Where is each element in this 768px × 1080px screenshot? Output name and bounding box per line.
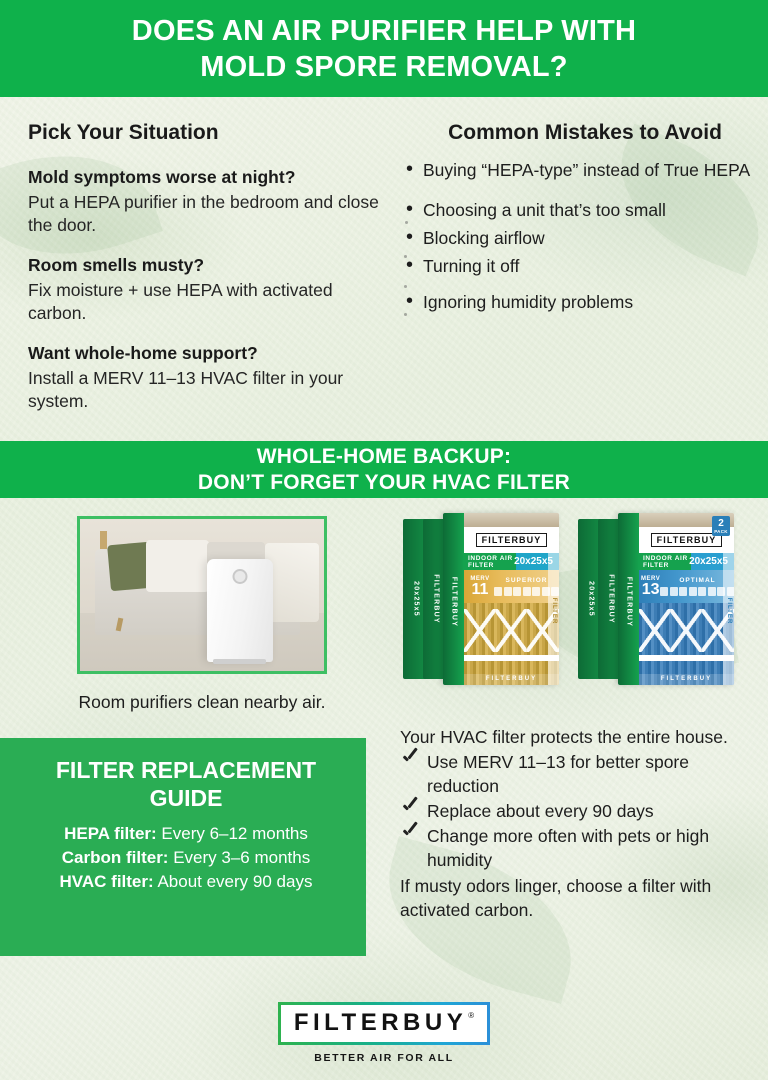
stray-bullet-artifact — [404, 255, 407, 258]
situation-question: Room smells musty? — [28, 254, 390, 277]
filter-bottom-brand: FILTERBUY — [639, 674, 734, 685]
filter-right-edge-text: FILTER — [726, 598, 732, 625]
rating-chip — [689, 587, 697, 596]
filter-left-band: FILTERBUY — [618, 513, 639, 685]
guide-title: FILTER REPLACEMENT GUIDE — [26, 756, 346, 812]
guide-row: HVAC filter: About every 90 days — [26, 870, 346, 894]
filter-right-edge: FILTER — [723, 551, 734, 685]
mistakes-section: Common Mistakes to Avoid Buying “HEPA-ty… — [402, 120, 754, 318]
situation-answer: Install a MERV 11–13 HVAC filter in your… — [28, 367, 390, 413]
rating-chip — [523, 587, 531, 596]
filter-category-label: INDOOR AIR FILTER — [639, 555, 689, 569]
header-title-line2: MOLD SPORE REMOVAL? — [200, 49, 567, 85]
filter-side-size: 20x25x5 — [588, 581, 595, 617]
situation-answer: Put a HEPA purifier in the bedroom and c… — [28, 191, 390, 237]
filter-box-front: FILTERBUY FILTERBUY INDOOR AIR FILTER 20… — [443, 513, 559, 685]
list-item-label: Use MERV 11–13 for better spore reductio… — [427, 752, 689, 796]
guide-row-label: Carbon filter: — [62, 848, 169, 867]
photo-throw-blanket — [265, 543, 319, 622]
mid-banner-line2: DON’T FORGET YOUR HVAC FILTER — [198, 470, 570, 496]
filter-merv-value: 13 — [641, 582, 660, 597]
guide-row-value: Every 3–6 months — [168, 848, 310, 867]
list-item: Blocking airflow — [402, 226, 754, 250]
filter-left-band-brand: FILTERBUY — [625, 577, 632, 627]
guide-row-label: HVAC filter: — [60, 872, 154, 891]
footer: FILTERBUY ® BETTER AIR FOR ALL — [0, 1002, 768, 1064]
guide-row: Carbon filter: Every 3–6 months — [26, 846, 346, 870]
filter-pleated-media — [464, 603, 559, 685]
filter-side-brand: FILTERBUY — [433, 574, 440, 624]
rating-chip — [660, 587, 668, 596]
guide-row-value: Every 6–12 months — [157, 824, 308, 843]
list-item: Change more often with pets or high humi… — [400, 824, 756, 872]
check-icon — [402, 825, 417, 840]
list-item: Use MERV 11–13 for better spore reductio… — [400, 750, 756, 798]
rating-chip — [532, 587, 540, 596]
filter-support-bar — [464, 655, 559, 661]
filter-side-size: 20x25x5 — [413, 581, 420, 617]
filter-pleated-media — [639, 603, 734, 685]
list-item: Ignoring humidity problems — [402, 290, 754, 314]
filter-top-edge — [464, 513, 559, 527]
filter-product-merv11: 20x25x5 FILTERBUY FILTERBUY FILTERBUY IN… — [399, 513, 563, 685]
hvac-check-list: Use MERV 11–13 for better spore reductio… — [400, 750, 756, 872]
list-item: Turning it off — [402, 254, 754, 278]
rating-chip — [670, 587, 678, 596]
check-icon — [402, 751, 417, 766]
mid-banner-line1: WHOLE-HOME BACKUP: — [257, 444, 511, 470]
filter-brand-logo: FILTERBUY — [476, 533, 548, 547]
header-banner: DOES AN AIR PURIFIER HELP WITH MOLD SPOR… — [0, 0, 768, 97]
situation-item: Want whole-home support? Install a MERV … — [28, 342, 390, 413]
situations-title: Pick Your Situation — [28, 120, 390, 146]
rating-chip — [504, 587, 512, 596]
filter-box-front: FILTERBUY 2 PACK FILTERBUY INDOOR AIR FI… — [618, 513, 734, 685]
filter-right-edge-text: FILTER — [551, 598, 557, 625]
guide-row-value: About every 90 days — [154, 872, 313, 891]
rating-chip — [679, 587, 687, 596]
filter-left-band: FILTERBUY — [443, 513, 464, 685]
photo-purifier-unit — [207, 559, 273, 662]
hvac-section: Your HVAC filter protects the entire hou… — [400, 725, 756, 922]
filter-support-braces — [464, 603, 559, 685]
filter-logo-bar: FILTERBUY — [464, 527, 559, 553]
filter-replacement-guide: FILTER REPLACEMENT GUIDE HEPA filter: Ev… — [0, 738, 366, 956]
rating-chip — [708, 587, 716, 596]
filter-left-band-brand: FILTERBUY — [450, 577, 457, 627]
header-title-line1: DOES AN AIR PURIFIER HELP WITH — [132, 13, 636, 49]
stray-bullet-artifact — [404, 313, 407, 316]
two-pack-label: PACK — [712, 529, 730, 534]
filter-info-bar: INDOOR AIR FILTER 20x25x5 — [464, 553, 559, 570]
stray-bullet-artifact — [404, 285, 407, 288]
purifier-figure: Room purifiers clean nearby air. — [77, 516, 327, 714]
rating-chip — [698, 587, 706, 596]
list-item-label: Change more often with pets or high humi… — [427, 826, 709, 870]
list-item: Buying “HEPA-type” instead of True HEPA — [402, 158, 754, 182]
situation-answer: Fix moisture + use HEPA with activated c… — [28, 279, 390, 325]
photo-cushion-white — [146, 540, 209, 592]
rating-chip — [513, 587, 521, 596]
guide-row: HEPA filter: Every 6–12 months — [26, 822, 346, 846]
brand-logo-wordmark: FILTERBUY — [294, 1010, 467, 1036]
air-purifier-photo — [77, 516, 327, 674]
filter-merv-value: 11 — [466, 582, 494, 597]
list-item: Replace about every 90 days — [400, 799, 756, 823]
stray-bullet-artifact — [405, 221, 408, 224]
brand-tagline: BETTER AIR FOR ALL — [0, 1052, 768, 1064]
filter-info-bar: INDOOR AIR FILTER 20x25x5 — [639, 553, 734, 570]
filter-bottom-brand: FILTERBUY — [464, 674, 559, 685]
filter-grade-bar: MERV 11 SUPERIOR — [464, 570, 559, 603]
filter-grade-bar: MERV 13 OPTIMAL — [639, 570, 734, 603]
registered-trademark-icon: ® — [468, 1011, 474, 1020]
filter-product-merv13: 20x25x5 FILTERBUY FILTERBUY 2 PACK FILTE… — [574, 513, 738, 685]
situation-question: Want whole-home support? — [28, 342, 390, 365]
situation-question: Mold symptoms worse at night? — [28, 166, 390, 189]
brand-logo-inner: FILTERBUY ® — [281, 1005, 487, 1042]
mid-banner: WHOLE-HOME BACKUP: DON’T FORGET YOUR HVA… — [0, 441, 768, 498]
list-item-label: Replace about every 90 days — [427, 801, 654, 821]
filter-right-edge: FILTER — [548, 551, 559, 685]
list-item: Choosing a unit that’s too small — [402, 198, 754, 222]
two-pack-badge: 2 PACK — [712, 516, 730, 536]
filter-support-bar — [639, 655, 734, 661]
filter-support-braces — [639, 603, 734, 685]
guide-row-label: HEPA filter: — [64, 824, 157, 843]
situation-item: Room smells musty? Fix moisture + use HE… — [28, 254, 390, 325]
filter-merv-rating: MERV 13 — [639, 576, 660, 597]
purifier-caption: Room purifiers clean nearby air. — [77, 690, 327, 714]
rating-chip — [494, 587, 502, 596]
filter-merv-rating: MERV 11 — [464, 576, 494, 597]
brand-logo-frame: FILTERBUY ® — [278, 1002, 490, 1045]
purifier-base — [213, 659, 266, 664]
situations-section: Pick Your Situation Mold symptoms worse … — [28, 120, 390, 430]
two-pack-count: 2 — [712, 518, 730, 529]
mistakes-list: Buying “HEPA-type” instead of True HEPA … — [402, 158, 754, 314]
filter-side-brand: FILTERBUY — [608, 574, 615, 624]
purifier-control-knob — [232, 569, 247, 584]
hvac-closing-note: If musty odors linger, choose a filter w… — [400, 874, 756, 922]
situation-item: Mold symptoms worse at night? Put a HEPA… — [28, 166, 390, 237]
filter-category-label: INDOOR AIR FILTER — [464, 555, 514, 569]
check-icon — [402, 800, 417, 815]
hvac-intro: Your HVAC filter protects the entire hou… — [400, 725, 756, 749]
mistakes-title: Common Mistakes to Avoid — [416, 120, 754, 146]
